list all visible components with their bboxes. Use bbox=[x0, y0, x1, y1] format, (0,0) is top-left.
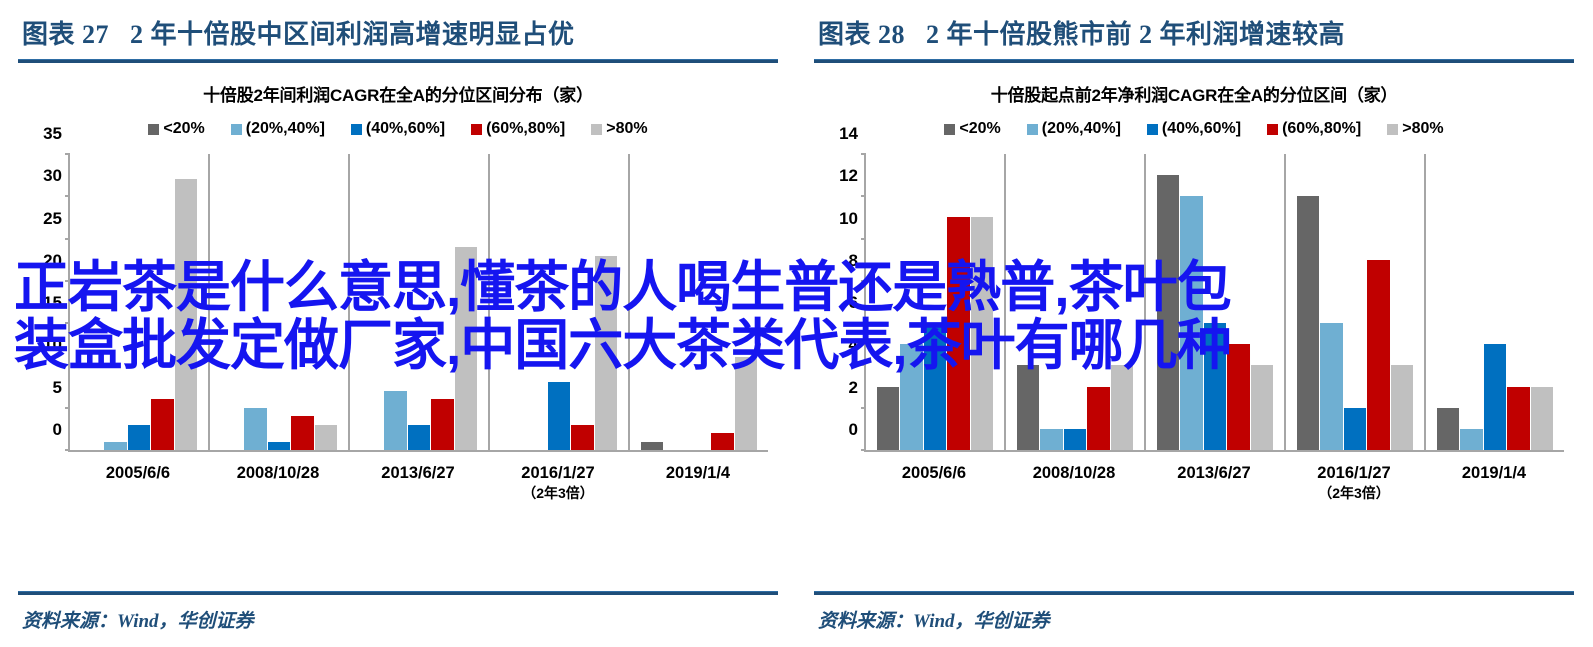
footer-divider-right bbox=[814, 591, 1574, 595]
header-divider-right bbox=[814, 59, 1574, 63]
x-axis-tick-label-main: 2005/6/6 bbox=[106, 464, 170, 482]
y-axis-tick-label: 12 bbox=[839, 166, 866, 186]
bar-group-inner bbox=[641, 154, 757, 450]
bar[interactable] bbox=[315, 425, 337, 450]
bar-groups bbox=[70, 154, 768, 450]
x-axis-tick-label-main: 2016/1/27 bbox=[1317, 464, 1390, 482]
bar[interactable] bbox=[1180, 196, 1202, 450]
x-axis-tick-label-main: 2008/10/28 bbox=[1033, 464, 1116, 482]
x-axis-tick-label-main: 2019/1/4 bbox=[666, 464, 730, 482]
legend-swatch-icon bbox=[1387, 124, 1398, 135]
bar-group-inner bbox=[81, 154, 197, 450]
x-axis-tick-label: 2016/1/27（2年3倍） bbox=[488, 462, 628, 503]
y-axis-tick-label: 10 bbox=[43, 335, 70, 355]
legend-item-label: (40%,60%] bbox=[366, 120, 445, 138]
bar[interactable] bbox=[571, 425, 593, 450]
plot-area-right: 02468101214 2005/6/62008/10/282013/6/272… bbox=[796, 144, 1592, 474]
legend-item-4[interactable]: >80% bbox=[1387, 120, 1443, 138]
legend-item-label: (20%,40%] bbox=[246, 120, 325, 138]
plot-area-left: 05101520253035 2005/6/62008/10/282013/6/… bbox=[0, 144, 796, 474]
x-axis-tick-label-sub: （2年3倍） bbox=[1284, 484, 1424, 503]
chart-legend-left: <20%(20%,40%](40%,60%](60%,80%]>80% bbox=[0, 120, 796, 138]
y-axis-tick-label: 0 bbox=[849, 420, 866, 440]
legend-item-2[interactable]: (40%,60%] bbox=[1147, 120, 1241, 138]
bar[interactable] bbox=[1157, 175, 1179, 450]
bar[interactable] bbox=[1204, 323, 1226, 450]
x-axis-tick-label-main: 2008/10/28 bbox=[237, 464, 320, 482]
bar[interactable] bbox=[151, 399, 173, 450]
bar[interactable] bbox=[711, 433, 733, 450]
bar[interactable] bbox=[641, 442, 663, 450]
bar[interactable] bbox=[1507, 387, 1529, 450]
x-axis-tick-label-main: 2005/6/6 bbox=[902, 464, 966, 482]
bar-group-inner bbox=[1157, 154, 1273, 450]
legend-swatch-icon bbox=[471, 124, 482, 135]
bar-group bbox=[350, 154, 490, 450]
bar-group bbox=[210, 154, 350, 450]
bar[interactable] bbox=[175, 179, 197, 450]
x-axis-tick-label: 2005/6/6 bbox=[864, 462, 1004, 503]
y-axis-tick-label: 6 bbox=[849, 293, 866, 313]
figure-label-left: 图表 27 bbox=[22, 20, 109, 49]
chart-title-right: 十倍股起点前2年净利润CAGR在全A的分位区间（家） bbox=[796, 81, 1592, 106]
bar[interactable] bbox=[1297, 196, 1319, 450]
y-axis-tick-label: 25 bbox=[43, 209, 70, 229]
bar-group-inner bbox=[221, 154, 337, 450]
legend-swatch-icon bbox=[1267, 124, 1278, 135]
bar-group bbox=[1006, 154, 1146, 450]
bar[interactable] bbox=[268, 442, 290, 450]
bar[interactable] bbox=[1391, 365, 1413, 450]
bar-group bbox=[490, 154, 630, 450]
x-axis-tick-label: 2013/6/27 bbox=[348, 462, 488, 503]
panel-right: 图表 28 2 年十倍股熊市前 2 年利润增速较高 十倍股起点前2年净利润CAG… bbox=[796, 0, 1592, 647]
legend-item-label: (60%,80%] bbox=[1282, 120, 1361, 138]
bar[interactable] bbox=[735, 357, 757, 450]
y-axis-tick-label: 5 bbox=[53, 378, 70, 398]
legend-swatch-icon bbox=[231, 124, 242, 135]
bar[interactable] bbox=[384, 391, 406, 450]
x-axis-tick-label-main: 2019/1/4 bbox=[1462, 464, 1526, 482]
chart-title-left: 十倍股2年间利润CAGR在全A的分位区间分布（家） bbox=[0, 81, 796, 106]
legend-item-3[interactable]: (60%,80%] bbox=[471, 120, 565, 138]
source-note-left: 资料来源：Wind，华创证券 bbox=[22, 606, 254, 633]
y-axis-tick-label: 20 bbox=[43, 251, 70, 271]
bar-group bbox=[1286, 154, 1426, 450]
x-axis-tick-label-main: 2013/6/27 bbox=[381, 464, 454, 482]
legend-swatch-icon bbox=[1147, 124, 1158, 135]
x-axis-tick-label: 2019/1/4 bbox=[628, 462, 768, 503]
bar-group bbox=[630, 154, 768, 450]
bar-group bbox=[70, 154, 210, 450]
y-axis-tick-label: 35 bbox=[43, 124, 70, 144]
plot-canvas-left: 05101520253035 bbox=[68, 154, 768, 452]
bar-group-inner bbox=[1437, 154, 1553, 450]
bar[interactable] bbox=[408, 425, 430, 450]
bar[interactable] bbox=[1437, 408, 1459, 450]
bar-group bbox=[1426, 154, 1564, 450]
legend-swatch-icon bbox=[591, 124, 602, 135]
bar[interactable] bbox=[1040, 429, 1062, 450]
bar[interactable] bbox=[947, 217, 969, 450]
bar[interactable] bbox=[1367, 260, 1389, 450]
figure-title-right: 图表 28 2 年十倍股熊市前 2 年利润增速较高 bbox=[796, 0, 1592, 51]
x-axis-tick-label: 2013/6/27 bbox=[1144, 462, 1284, 503]
bar[interactable] bbox=[244, 408, 266, 450]
legend-item-4[interactable]: >80% bbox=[591, 120, 647, 138]
legend-item-0[interactable]: <20% bbox=[148, 120, 204, 138]
x-axis-tick-label: 2016/1/27（2年3倍） bbox=[1284, 462, 1424, 503]
bar[interactable] bbox=[455, 247, 477, 450]
bar[interactable] bbox=[431, 399, 453, 450]
bar[interactable] bbox=[104, 442, 126, 450]
bar[interactable] bbox=[1017, 365, 1039, 450]
legend-item-label: <20% bbox=[959, 120, 1000, 138]
legend-item-1[interactable]: (20%,40%] bbox=[231, 120, 325, 138]
figure-title-left: 图表 27 2 年十倍股中区间利润高增速明显占优 bbox=[0, 0, 796, 51]
bar[interactable] bbox=[1111, 365, 1133, 450]
bar[interactable] bbox=[291, 416, 313, 450]
x-axis-tick-label: 2008/10/28 bbox=[1004, 462, 1144, 503]
panel-left: 图表 27 2 年十倍股中区间利润高增速明显占优 十倍股2年间利润CAGR在全A… bbox=[0, 0, 796, 647]
x-axis-tick-label-main: 2016/1/27 bbox=[521, 464, 594, 482]
legend-swatch-icon bbox=[148, 124, 159, 135]
y-axis-tick-label: 4 bbox=[849, 335, 866, 355]
plot-canvas-right: 02468101214 bbox=[864, 154, 1564, 452]
y-axis-tick-label: 14 bbox=[839, 124, 866, 144]
figure-caption-left: 2 年十倍股中区间利润高增速明显占优 bbox=[130, 20, 575, 49]
legend-item-1[interactable]: (20%,40%] bbox=[1027, 120, 1121, 138]
y-axis-tick-label: 10 bbox=[839, 209, 866, 229]
legend-item-label: (40%,60%] bbox=[1162, 120, 1241, 138]
legend-swatch-icon bbox=[1027, 124, 1038, 135]
chart-legend-right: <20%(20%,40%](40%,60%](60%,80%]>80% bbox=[796, 120, 1592, 138]
bar-group bbox=[1146, 154, 1286, 450]
legend-item-label: (60%,80%] bbox=[486, 120, 565, 138]
bar[interactable] bbox=[1227, 344, 1249, 450]
bar[interactable] bbox=[1320, 323, 1342, 450]
x-axis-tick-label-sub: （2年3倍） bbox=[488, 484, 628, 503]
header-divider-left bbox=[18, 59, 778, 63]
x-axis-tick-label: 2008/10/28 bbox=[208, 462, 348, 503]
bar-group-inner bbox=[1017, 154, 1133, 450]
y-axis-tick-label: 15 bbox=[43, 293, 70, 313]
y-axis-tick-label: 0 bbox=[53, 420, 70, 440]
bar[interactable] bbox=[1344, 408, 1366, 450]
legend-item-label: >80% bbox=[1402, 120, 1443, 138]
x-axis-labels-left: 2005/6/62008/10/282013/6/272016/1/27（2年3… bbox=[68, 462, 768, 503]
bar[interactable] bbox=[1064, 429, 1086, 450]
bar[interactable] bbox=[595, 256, 617, 451]
x-axis-tick-label-main: 2013/6/27 bbox=[1177, 464, 1250, 482]
bar[interactable] bbox=[1251, 365, 1273, 450]
bar[interactable] bbox=[924, 323, 946, 450]
legend-item-3[interactable]: (60%,80%] bbox=[1267, 120, 1361, 138]
x-axis-tick-label: 2005/6/6 bbox=[68, 462, 208, 503]
bar-group-inner bbox=[361, 154, 477, 450]
legend-item-2[interactable]: (40%,60%] bbox=[351, 120, 445, 138]
bar[interactable] bbox=[1531, 387, 1553, 450]
bar[interactable] bbox=[900, 344, 922, 450]
bar[interactable] bbox=[1087, 387, 1109, 450]
page-root: 图表 27 2 年十倍股中区间利润高增速明显占优 十倍股2年间利润CAGR在全A… bbox=[0, 0, 1593, 647]
bar[interactable] bbox=[548, 382, 570, 450]
figure-label-right: 图表 28 bbox=[818, 20, 905, 49]
bar[interactable] bbox=[1460, 429, 1482, 450]
bar-groups bbox=[866, 154, 1564, 450]
legend-item-0[interactable]: <20% bbox=[944, 120, 1000, 138]
legend-item-label: <20% bbox=[163, 120, 204, 138]
bar[interactable] bbox=[128, 425, 150, 450]
bar-group-inner bbox=[501, 154, 617, 450]
source-note-right: 资料来源：Wind，华创证券 bbox=[818, 606, 1050, 633]
figure-caption-right: 2 年十倍股熊市前 2 年利润增速较高 bbox=[926, 20, 1345, 49]
legend-swatch-icon bbox=[944, 124, 955, 135]
y-axis-tick-label: 2 bbox=[849, 378, 866, 398]
bar-group-inner bbox=[877, 154, 993, 450]
x-axis-tick-label: 2019/1/4 bbox=[1424, 462, 1564, 503]
x-axis-labels-right: 2005/6/62008/10/282013/6/272016/1/27（2年3… bbox=[864, 462, 1564, 503]
bar[interactable] bbox=[877, 387, 899, 450]
y-axis-tick-label: 8 bbox=[849, 251, 866, 271]
footer-divider-left bbox=[18, 591, 778, 595]
y-axis-tick-label: 30 bbox=[43, 166, 70, 186]
legend-item-label: >80% bbox=[606, 120, 647, 138]
bar-group-inner bbox=[1297, 154, 1413, 450]
bar[interactable] bbox=[1484, 344, 1506, 450]
legend-swatch-icon bbox=[351, 124, 362, 135]
bar[interactable] bbox=[971, 217, 993, 450]
legend-item-label: (20%,40%] bbox=[1042, 120, 1121, 138]
bar-group bbox=[866, 154, 1006, 450]
